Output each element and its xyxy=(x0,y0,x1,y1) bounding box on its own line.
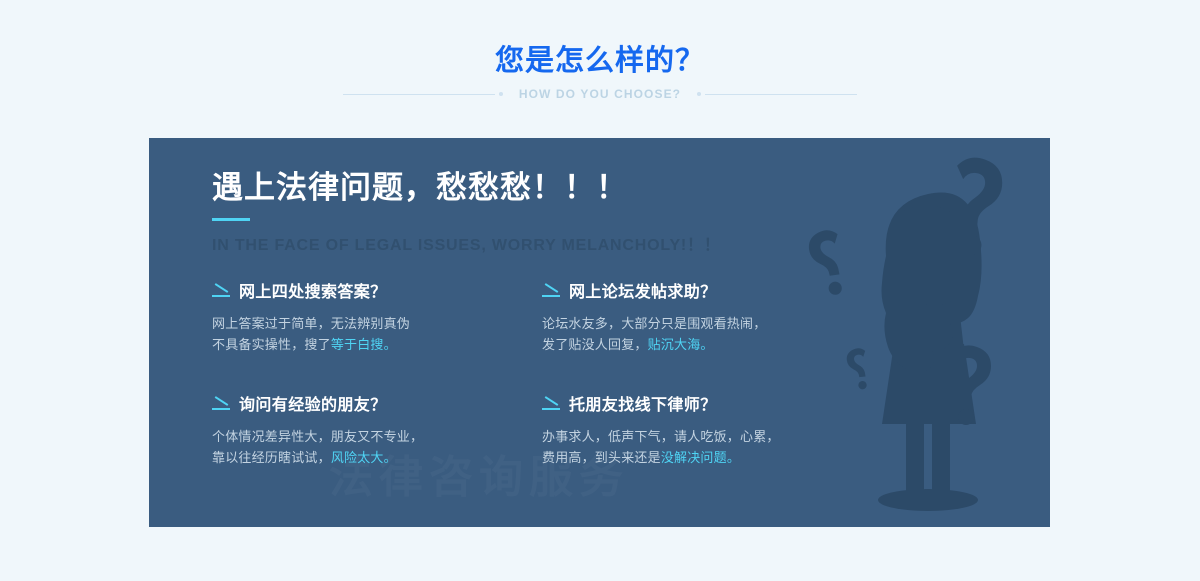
item-line-1: 办事求人，低声下气，请人吃饭，心累， xyxy=(542,426,872,447)
item-title: 网上四处搜索答案？ xyxy=(239,278,387,302)
item-header: 网上四处搜索答案？ xyxy=(212,278,542,302)
item-title: 网上论坛发帖求助？ xyxy=(569,278,717,302)
item-line-1: 个体情况差异性大，朋友又不专业， xyxy=(212,426,542,447)
item-header: 托朋友找线下律师？ xyxy=(542,391,872,415)
item-description: 办事求人，低声下气，请人吃饭，心累， 费用高，到头来还是没解决问题。 xyxy=(542,426,872,468)
slash-marker-icon xyxy=(542,395,560,411)
feature-panel: 法律咨询服务 遇上法律问题，愁愁愁！！！ IN THE FACE OF LEGA… xyxy=(149,138,1050,527)
divider-line-left xyxy=(343,92,503,96)
item-line-2-highlight: 等于白搜 xyxy=(331,337,384,352)
item-line-2-prefix: 费用高，到头来还是 xyxy=(542,450,661,465)
item-line-2-suffix: 。 xyxy=(727,450,740,465)
item-line-2-prefix: 不具备实操性，搜了 xyxy=(212,337,331,352)
item-description: 个体情况差异性大，朋友又不专业， 靠以往经历瞎试试，风险太大。 xyxy=(212,426,542,468)
list-item: 网上论坛发帖求助？ 论坛水友多，大部分只是围观看热闹， 发了贴没人回复，贴沉大海… xyxy=(542,278,872,355)
title-underline xyxy=(212,218,250,221)
panel-heading-block: 遇上法律问题，愁愁愁！！！ IN THE FACE OF LEGAL ISSUE… xyxy=(212,168,912,255)
item-line-1: 论坛水友多，大部分只是围观看热闹， xyxy=(542,313,872,334)
list-item: 网上四处搜索答案？ 网上答案过于简单，无法辨别真伪 不具备实操性，搜了等于白搜。 xyxy=(212,278,542,355)
slash-marker-icon xyxy=(212,395,230,411)
page-title: 您是怎么样的？ xyxy=(0,44,1200,78)
item-line-1: 网上答案过于简单，无法辨别真伪 xyxy=(212,313,542,334)
item-line-2-suffix: 。 xyxy=(700,337,713,352)
item-header: 网上论坛发帖求助？ xyxy=(542,278,872,302)
section-header: 您是怎么样的？ HOW DO YOU CHOOSE? xyxy=(0,44,1200,101)
item-line-2-highlight: 贴沉大海 xyxy=(648,337,701,352)
slash-marker-icon xyxy=(542,282,560,298)
item-line-2-highlight: 风险太大 xyxy=(331,450,384,465)
item-header: 询问有经验的朋友？ xyxy=(212,391,542,415)
section-subtitle: HOW DO YOU CHOOSE? xyxy=(519,87,681,101)
slash-marker-icon xyxy=(212,282,230,298)
item-title: 托朋友找线下律师？ xyxy=(569,391,717,415)
pain-point-grid: 网上四处搜索答案？ 网上答案过于简单，无法辨别真伪 不具备实操性，搜了等于白搜。… xyxy=(212,278,892,468)
list-item: 询问有经验的朋友？ 个体情况差异性大，朋友又不专业， 靠以往经历瞎试试，风险太大… xyxy=(212,391,542,468)
item-line-2-highlight: 没解决问题 xyxy=(661,450,727,465)
section-subtitle-row: HOW DO YOU CHOOSE? xyxy=(0,87,1200,101)
panel-subtitle: IN THE FACE OF LEGAL ISSUES, WORRY MELAN… xyxy=(212,231,912,255)
item-line-2: 费用高，到头来还是没解决问题。 xyxy=(542,447,872,468)
item-title: 询问有经验的朋友？ xyxy=(239,391,387,415)
item-line-2: 发了贴没人回复，贴沉大海。 xyxy=(542,334,872,355)
item-description: 网上答案过于简单，无法辨别真伪 不具备实操性，搜了等于白搜。 xyxy=(212,313,542,355)
panel-title: 遇上法律问题，愁愁愁！！！ xyxy=(212,168,912,208)
item-line-2-prefix: 发了贴没人回复， xyxy=(542,337,648,352)
item-line-2: 不具备实操性，搜了等于白搜。 xyxy=(212,334,542,355)
list-item: 托朋友找线下律师？ 办事求人，低声下气，请人吃饭，心累， 费用高，到头来还是没解… xyxy=(542,391,872,468)
item-line-2-prefix: 靠以往经历瞎试试， xyxy=(212,450,331,465)
item-line-2-suffix: 。 xyxy=(384,337,397,352)
item-line-2-suffix: 。 xyxy=(384,450,397,465)
item-description: 论坛水友多，大部分只是围观看热闹， 发了贴没人回复，贴沉大海。 xyxy=(542,313,872,355)
divider-line-right xyxy=(697,92,857,96)
item-line-2: 靠以往经历瞎试试，风险太大。 xyxy=(212,447,542,468)
